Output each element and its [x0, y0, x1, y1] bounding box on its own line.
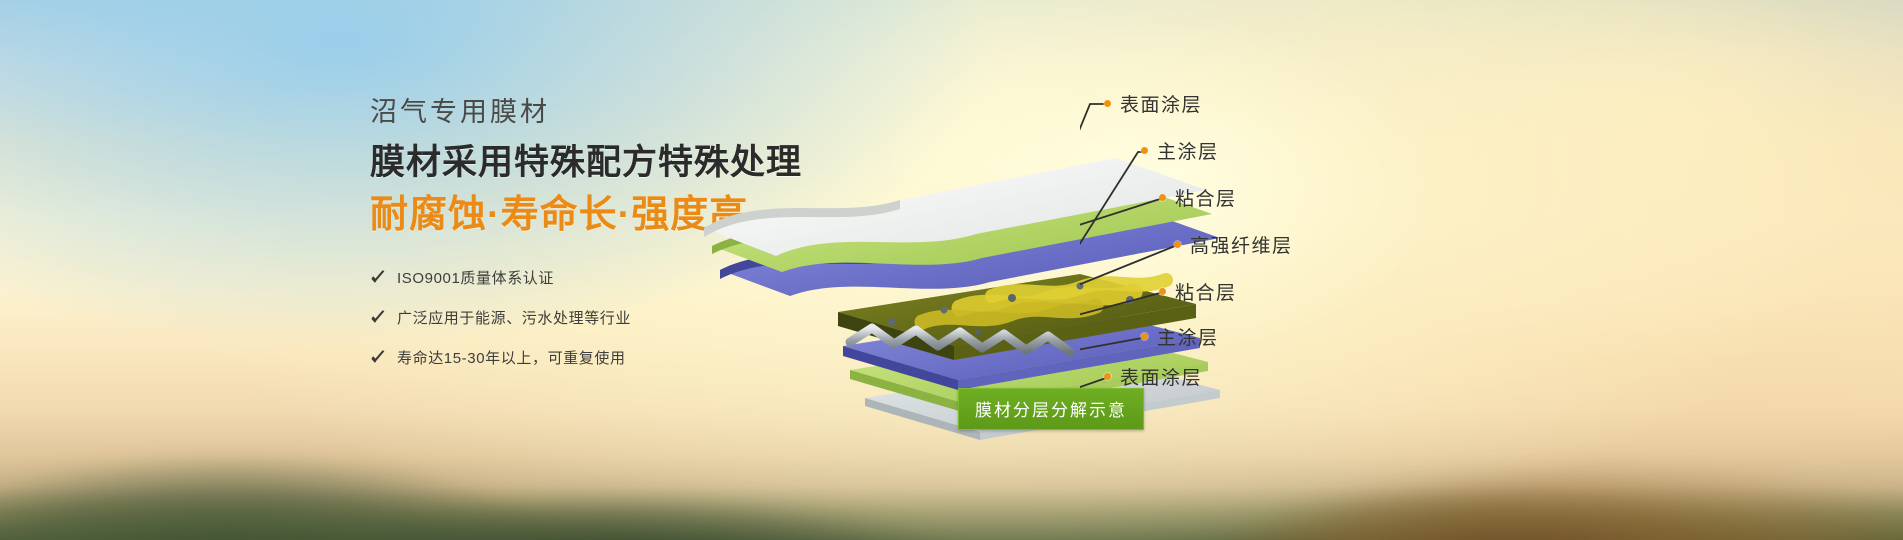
callout-label: 表面涂层 — [1120, 363, 1202, 390]
callout-label: 主涂层 — [1157, 323, 1219, 350]
callout-label: 表面涂层 — [1120, 90, 1202, 117]
callout-label: 粘合层 — [1175, 278, 1237, 305]
bullet-dot-icon — [1141, 333, 1148, 340]
diagram-caption-badge: 膜材分层分解示意 — [958, 388, 1144, 430]
callout-main-coating-top: 主涂层 — [1141, 137, 1219, 164]
leader-lines — [1080, 60, 1700, 480]
list-item-label: 寿命达15-30年以上，可重复使用 — [397, 347, 626, 368]
bullet-dot-icon — [1141, 147, 1148, 154]
bullet-dot-icon — [1104, 373, 1111, 380]
callout-label: 粘合层 — [1175, 184, 1237, 211]
bullet-dot-icon — [1104, 100, 1111, 107]
list-item-label: ISO9001质量体系认证 — [397, 267, 554, 288]
bullet-dot-icon — [1159, 288, 1166, 295]
callout-main-coating-bottom: 主涂层 — [1141, 323, 1219, 350]
callout-label: 高强纤维层 — [1190, 231, 1293, 258]
promo-banner: 沼气专用膜材 膜材采用特殊配方特殊处理 耐腐蚀·寿命长·强度高 ISO9001质… — [0, 0, 1903, 540]
callout-surface-coating-top: 表面涂层 — [1104, 90, 1202, 117]
bullet-dot-icon — [1174, 241, 1181, 248]
callout-labels: 表面涂层 主涂层 粘合层 高强纤维层 粘合层 主涂层 表面涂层 — [1080, 60, 1700, 480]
callout-adhesive-bottom: 粘合层 — [1159, 278, 1237, 305]
check-icon — [370, 349, 386, 365]
check-icon — [370, 309, 386, 325]
callout-label: 主涂层 — [1157, 137, 1219, 164]
callout-fibre-core: 高强纤维层 — [1174, 231, 1293, 258]
callout-surface-coating-bottom: 表面涂层 — [1104, 363, 1202, 390]
check-icon — [370, 269, 386, 285]
list-item-label: 广泛应用于能源、污水处理等行业 — [397, 307, 631, 328]
callout-adhesive-top: 粘合层 — [1159, 184, 1237, 211]
bullet-dot-icon — [1159, 194, 1166, 201]
